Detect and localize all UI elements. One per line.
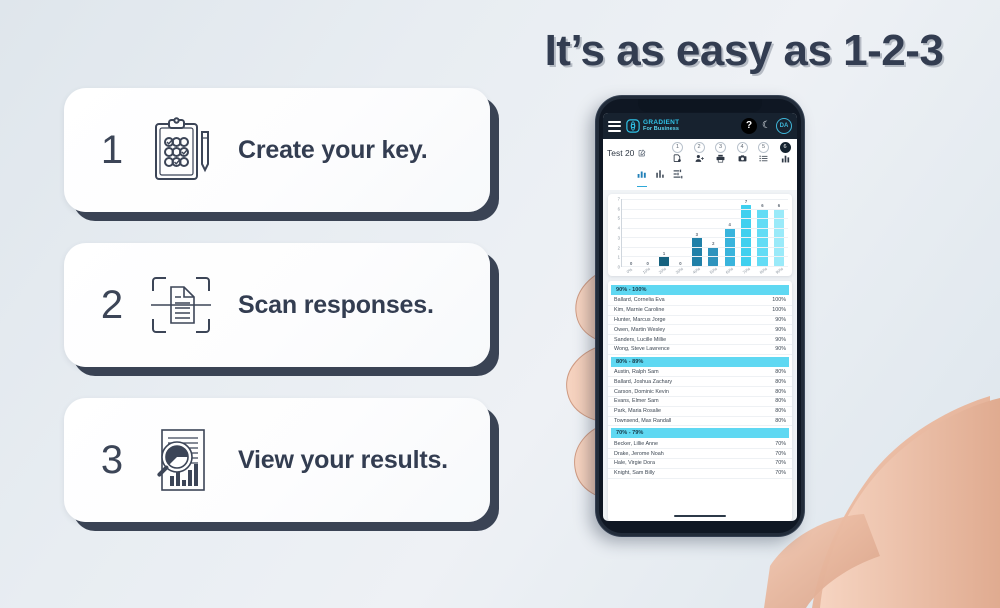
- bar-value-label: 6: [761, 203, 763, 208]
- student-name: Kim, Marnie Caroline: [614, 307, 664, 313]
- y-tick: 2: [618, 245, 620, 250]
- step-number: 5: [758, 142, 769, 153]
- score-group-header: 70% - 79%: [611, 428, 789, 438]
- workflow-step-5[interactable]: 5: [756, 142, 772, 163]
- student-name: Townsend, Max Randall: [614, 418, 671, 424]
- y-tick: 4: [618, 226, 620, 231]
- workflow-step-3[interactable]: 3: [713, 142, 729, 163]
- bar-value-label: 6: [778, 203, 780, 208]
- gridline: [622, 237, 788, 238]
- student-score: 100%: [772, 297, 786, 303]
- step-number: 2: [694, 142, 705, 153]
- student-score: 80%: [775, 379, 786, 385]
- hamburger-icon[interactable]: [608, 121, 621, 132]
- table-row[interactable]: Evans, Elmer Sam80%: [608, 397, 792, 407]
- brand-subtitle: For Business: [643, 127, 679, 133]
- gradient-logo-icon: [626, 119, 640, 133]
- list-icon: [756, 154, 772, 163]
- student-score: 70%: [775, 460, 786, 466]
- steps-list: 1 Create your key.: [64, 88, 490, 553]
- student-name: Hale, Virgie Dora: [614, 460, 655, 466]
- y-tick: 1: [618, 255, 620, 260]
- chart-bars-area: 0010324766: [621, 199, 788, 267]
- y-tick: 6: [618, 206, 620, 211]
- step-number: 6: [780, 142, 791, 153]
- student-score: 80%: [775, 369, 786, 375]
- student-name: Becker, Lillie Anne: [614, 441, 658, 447]
- chart-x-axis: 0%10%20%30%40%50%60%70%80%90%: [612, 268, 788, 273]
- student-name: Drake, Jerome Noah: [614, 451, 664, 457]
- workflow-steps: 1 2: [670, 142, 794, 163]
- edit-icon[interactable]: [638, 149, 646, 157]
- table-row[interactable]: Carson, Dominic Kevin80%: [608, 387, 792, 397]
- student-score: 100%: [772, 307, 786, 313]
- student-score: 70%: [775, 441, 786, 447]
- chart-bar[interactable]: [692, 237, 702, 266]
- table-row[interactable]: Drake, Jerome Noah70%: [608, 449, 792, 459]
- step-number: 3: [86, 438, 138, 483]
- table-row[interactable]: Owen, Martin Wesley90%: [608, 325, 792, 335]
- bar-value-label: 1: [663, 251, 665, 256]
- step-card-2[interactable]: 2 Scan responses.: [64, 243, 490, 367]
- student-name: Sanders, Lucille Millie: [614, 337, 666, 343]
- chart-y-axis: 76543210: [612, 199, 621, 267]
- app-toolbar: Test 20 1: [603, 139, 797, 190]
- help-button[interactable]: ?: [741, 118, 757, 134]
- camera-icon: [734, 154, 750, 163]
- phone-mockup: GRADIENT For Business ? ☾ DA Test 20: [596, 96, 804, 536]
- moon-icon[interactable]: ☾: [762, 121, 771, 131]
- document-scan-icon: [138, 273, 224, 337]
- home-indicator: [674, 515, 726, 518]
- file-key-icon: [670, 154, 686, 163]
- gridline: [622, 256, 788, 257]
- y-tick: 0: [618, 265, 620, 270]
- step-number: 1: [672, 142, 683, 153]
- student-name: Knight, Sam Billy: [614, 470, 655, 476]
- table-row[interactable]: Park, Maria Rosalie80%: [608, 407, 792, 417]
- gridline: [622, 218, 788, 219]
- student-name: Hunter, Marcus Jorge: [614, 317, 666, 323]
- bar-value-label: 4: [728, 222, 730, 227]
- score-distribution-chart: 76543210 0010324766 0%10%20%30%40%50%60%…: [608, 194, 792, 276]
- step-card-1[interactable]: 1 Create your key.: [64, 88, 490, 212]
- gridline: [622, 199, 788, 200]
- student-score: 80%: [775, 418, 786, 424]
- student-score: 90%: [775, 337, 786, 343]
- workflow-step-1[interactable]: 1: [670, 142, 686, 163]
- chart-plot-area: 76543210 0010324766: [612, 199, 788, 267]
- step-label: Create your key.: [224, 136, 428, 165]
- student-name: Ballard, Joshua Zachary: [614, 379, 672, 385]
- student-name: Austin, Ralph Sam: [614, 369, 659, 375]
- student-name: Carson, Dominic Kevin: [614, 389, 669, 395]
- step-number: 2: [86, 283, 138, 328]
- view-tabs: [607, 163, 793, 188]
- y-tick: 3: [618, 235, 620, 240]
- clipboard-pencil-icon: [138, 117, 224, 183]
- table-row[interactable]: Wong, Steve Lawrence90%: [608, 345, 792, 355]
- step-number: 4: [737, 142, 748, 153]
- student-score: 80%: [775, 389, 786, 395]
- table-row[interactable]: Townsend, Max Randall80%: [608, 417, 792, 427]
- step-card-3[interactable]: 3 View your results.: [64, 398, 490, 522]
- student-score: 90%: [775, 327, 786, 333]
- table-row[interactable]: Hunter, Marcus Jorge90%: [608, 316, 792, 326]
- table-row[interactable]: Ballard, Cornelia Eva100%: [608, 296, 792, 306]
- step-label: Scan responses.: [224, 291, 434, 320]
- table-row[interactable]: Becker, Lillie Anne70%: [608, 439, 792, 449]
- student-score: 90%: [775, 346, 786, 352]
- bar-value-label: 3: [696, 232, 698, 237]
- student-score: 80%: [775, 398, 786, 404]
- y-tick: 7: [618, 197, 620, 202]
- step-number: 1: [86, 128, 138, 173]
- printer-icon: [713, 154, 729, 163]
- gridline: [622, 228, 788, 229]
- student-name: Owen, Martin Wesley: [614, 327, 665, 333]
- tab-chart-column[interactable]: [655, 166, 665, 187]
- student-name: Wong, Steve Lawrence: [614, 346, 670, 352]
- magnifier-report-icon: [138, 426, 224, 494]
- table-row[interactable]: Knight, Sam Billy70%: [608, 469, 792, 479]
- student-score: 70%: [775, 470, 786, 476]
- results-list[interactable]: 90% - 100%Ballard, Cornelia Eva100%Kim, …: [608, 281, 792, 521]
- avatar[interactable]: DA: [776, 118, 792, 134]
- student-score: 90%: [775, 317, 786, 323]
- add-person-icon: [691, 154, 707, 163]
- table-row[interactable]: Sanders, Lucille Millie90%: [608, 335, 792, 345]
- table-row[interactable]: Austin, Ralph Sam80%: [608, 368, 792, 378]
- tab-chart-bar[interactable]: [637, 166, 647, 187]
- student-name: Park, Maria Rosalie: [614, 408, 661, 414]
- gridline: [622, 247, 788, 248]
- app-header: GRADIENT For Business ? ☾ DA: [603, 113, 797, 139]
- student-score: 80%: [775, 408, 786, 414]
- workflow-step-4[interactable]: 4: [734, 142, 750, 163]
- test-title: Test 20: [607, 148, 634, 158]
- bar-value-label: 2: [712, 241, 714, 246]
- score-group-header: 90% - 100%: [611, 285, 789, 295]
- app-screen: GRADIENT For Business ? ☾ DA Test 20: [603, 113, 797, 521]
- student-name: Evans, Elmer Sam: [614, 398, 659, 404]
- workflow-step-6[interactable]: 6: [777, 142, 793, 163]
- bar-chart-icon: [777, 154, 793, 163]
- table-row[interactable]: Kim, Marnie Caroline100%: [608, 306, 792, 316]
- page-title: It’s as easy as 1-2-3: [498, 28, 990, 74]
- y-tick: 5: [618, 216, 620, 221]
- brand-logo: GRADIENT For Business: [626, 119, 679, 133]
- poster-stage: It’s as easy as 1-2-3 1: [0, 0, 1000, 608]
- table-row[interactable]: Hale, Virgie Dora70%: [608, 459, 792, 469]
- workflow-step-2[interactable]: 2: [691, 142, 707, 163]
- step-label: View your results.: [224, 446, 448, 475]
- student-name: Ballard, Cornelia Eva: [614, 297, 665, 303]
- tab-chart-sliders[interactable]: [673, 166, 683, 187]
- table-row[interactable]: Ballard, Joshua Zachary80%: [608, 377, 792, 387]
- student-score: 70%: [775, 451, 786, 457]
- gridline: [622, 209, 788, 210]
- step-number: 3: [715, 142, 726, 153]
- score-group-header: 80% - 89%: [611, 357, 789, 367]
- phone-notch: [638, 99, 762, 112]
